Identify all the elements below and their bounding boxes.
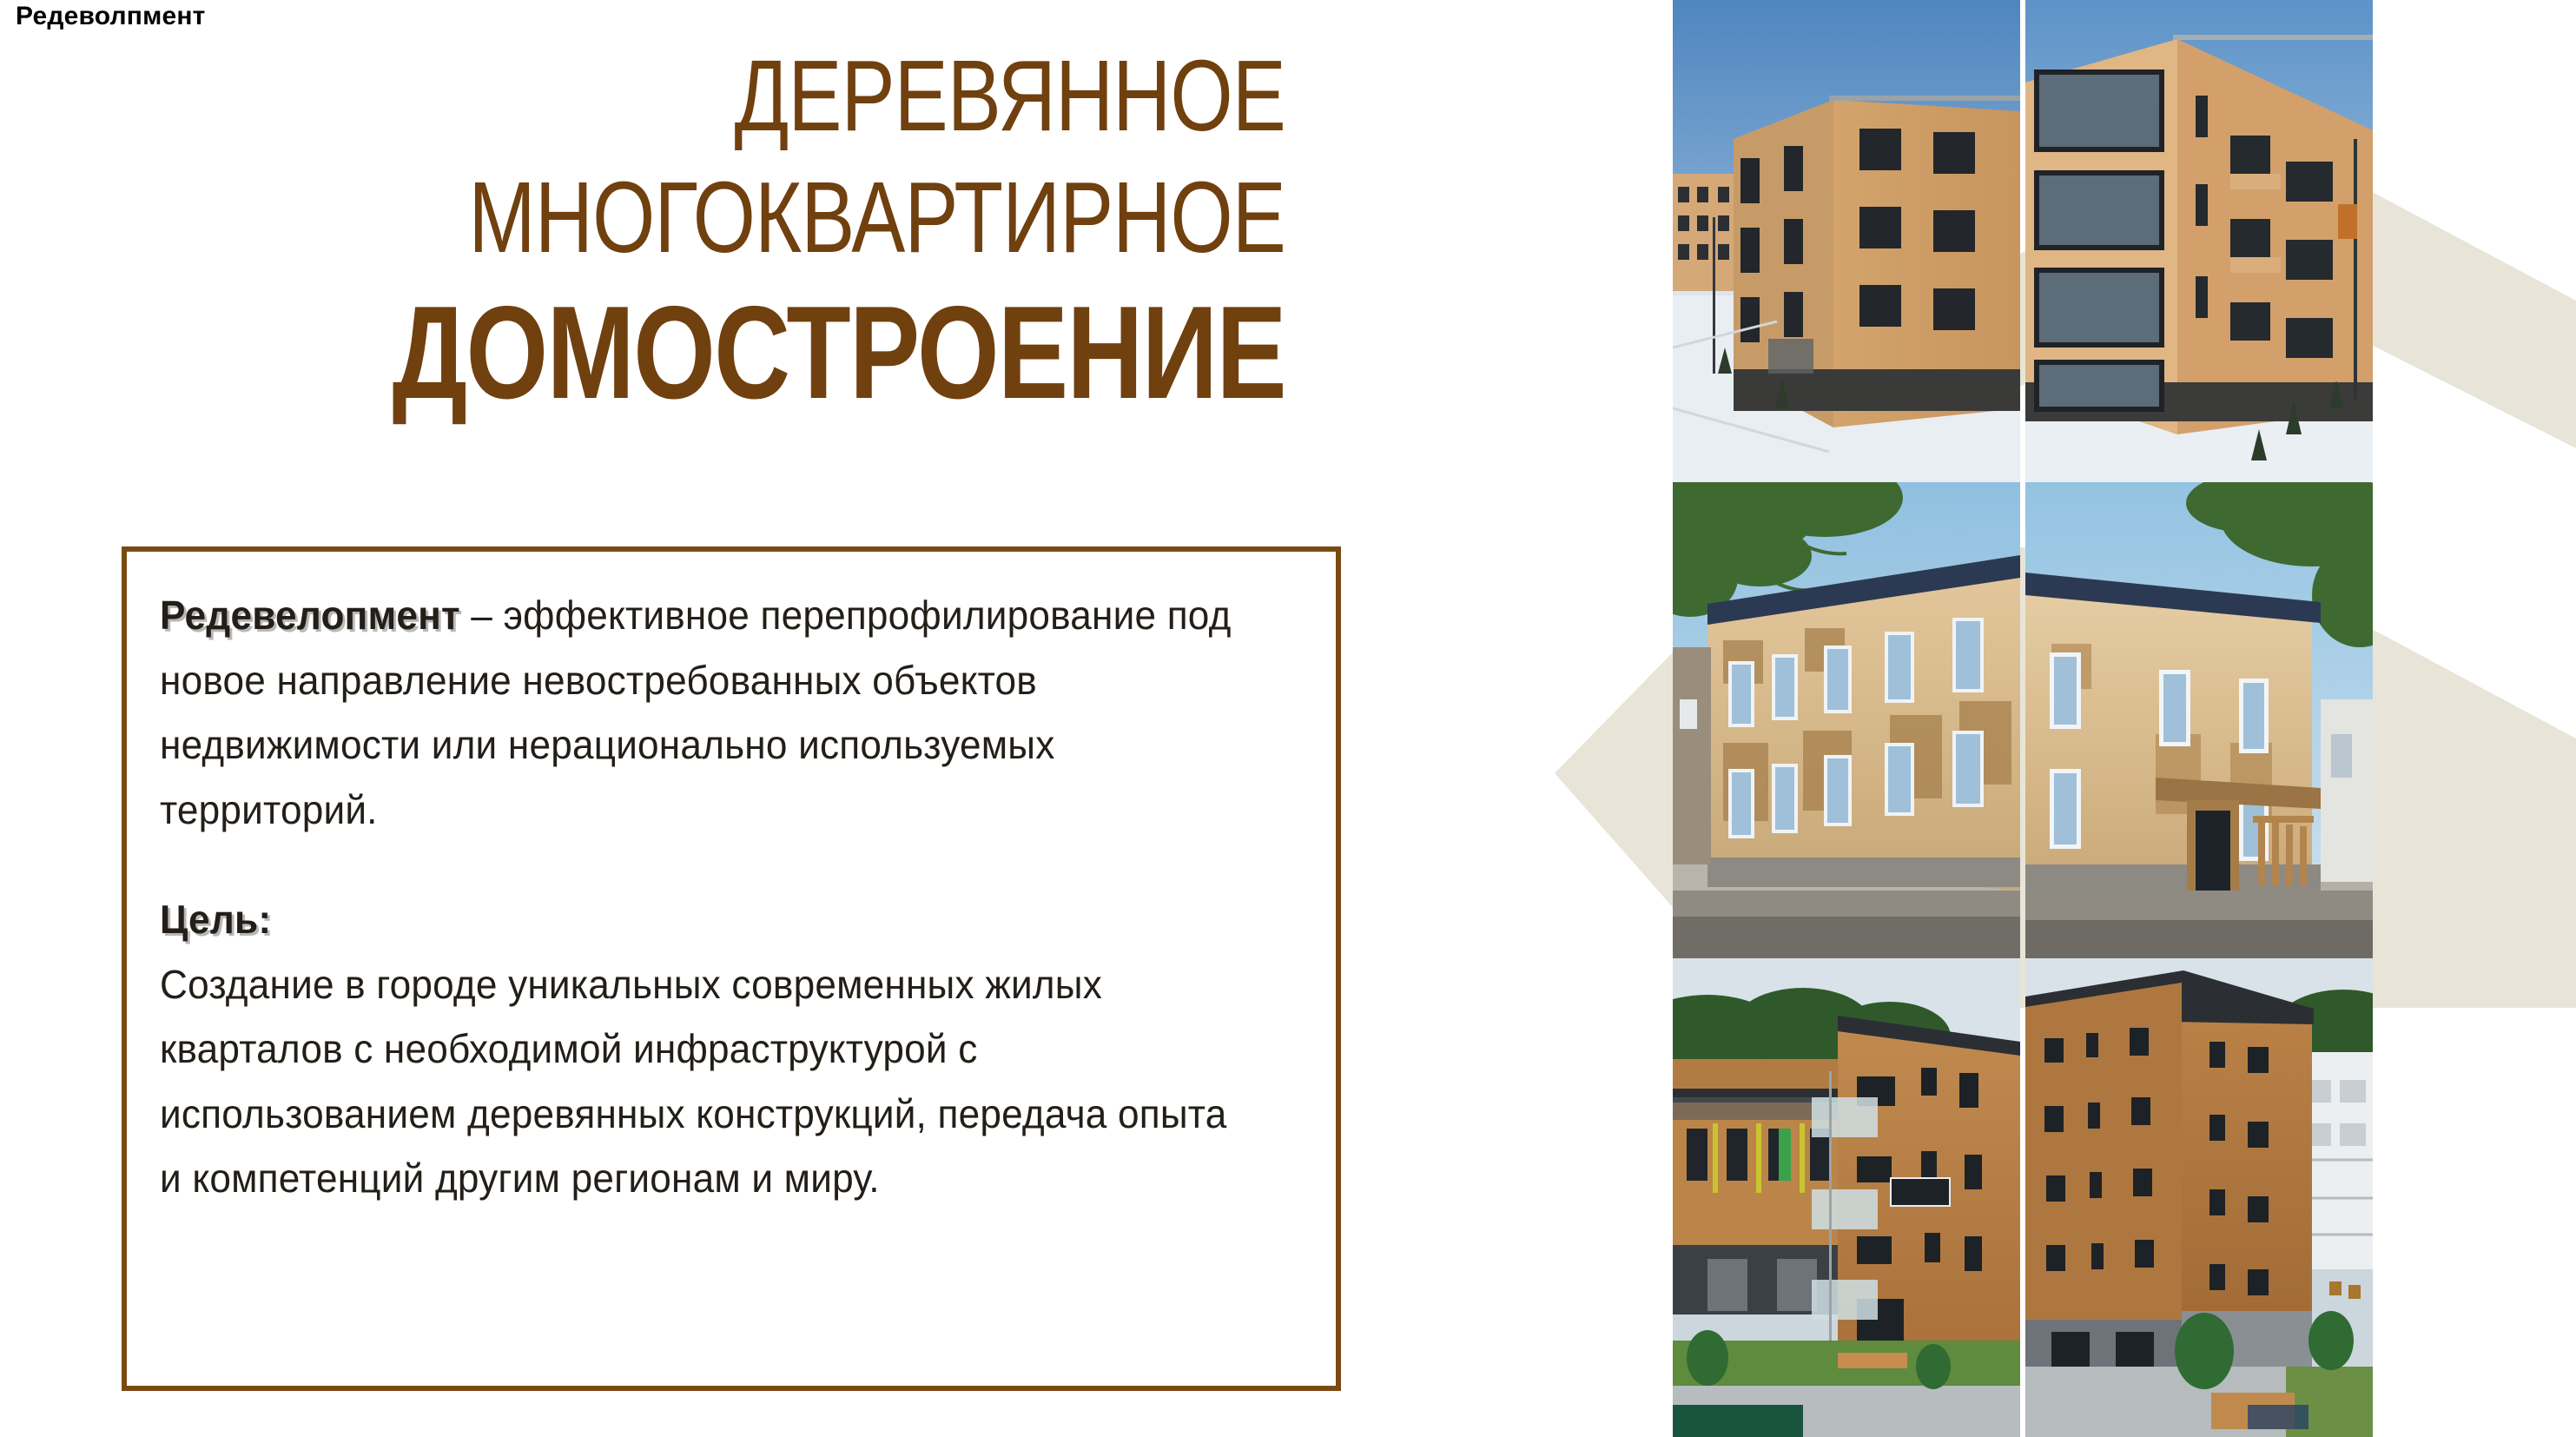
title-line-1: ДЕРЕВЯННОЕ xyxy=(257,45,1285,146)
definition-paragraph: Редевелопмент – эффективное перепрофилир… xyxy=(160,583,1251,842)
title-line-2: МНОГОКВАРТИРНОЕ xyxy=(257,167,1285,268)
definition-text-box: Редевелопмент – эффективное перепрофилир… xyxy=(122,546,1341,1391)
definition-lead-term: Редевелопмент xyxy=(160,593,460,638)
title-line-3: ДОМОСТРОЕНИЕ xyxy=(257,287,1285,419)
slide-root: Редеволпмент ДЕРЕВЯННОЕ МНОГОКВАРТИРНОЕ … xyxy=(0,0,2576,1437)
photo-modern-wood-quarter-right xyxy=(2025,958,2373,1437)
photo-apartment-block-winter-left xyxy=(1673,0,2020,482)
page-title: ДЕРЕВЯННОЕ МНОГОКВАРТИРНОЕ ДОМОСТРОЕНИЕ xyxy=(0,45,1355,419)
goal-paragraph: Цель:Создание в городе уникальных соврем… xyxy=(160,887,1251,1211)
photo-apartment-block-winter-right xyxy=(2025,0,2373,482)
photo-modern-wood-quarter-left xyxy=(1673,958,2020,1437)
photo-two-story-wooden-house-left xyxy=(1673,482,2020,958)
goal-body-text: Создание в городе уникальных современных… xyxy=(160,962,1226,1202)
photo-collage xyxy=(1673,0,2373,1437)
header-slug: Редеволпмент xyxy=(16,2,206,31)
goal-label: Цель: xyxy=(160,887,1251,952)
photo-two-story-wooden-house-right xyxy=(2025,482,2373,958)
